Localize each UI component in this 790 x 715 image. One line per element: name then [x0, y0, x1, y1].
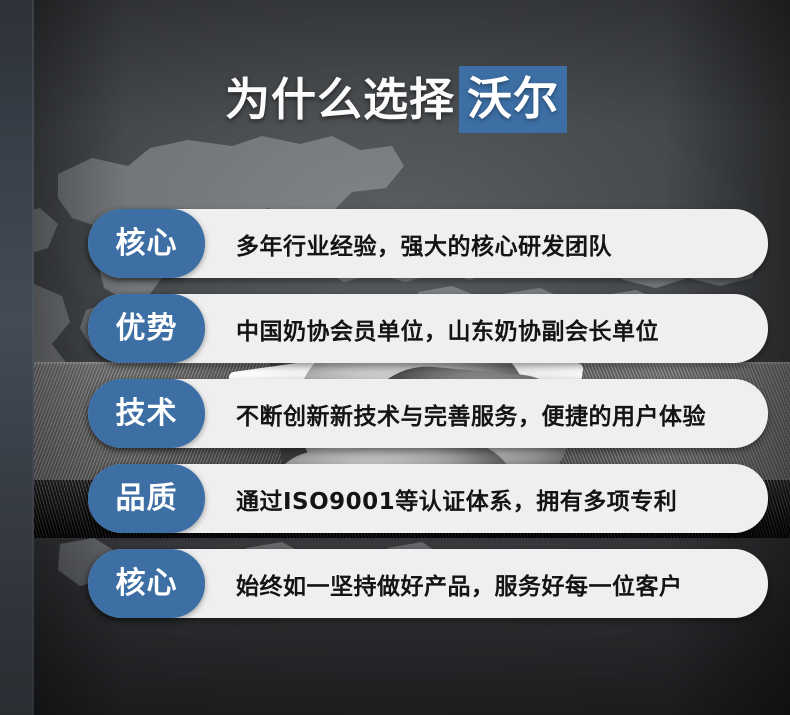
feature-row[interactable]: 通过ISO9001等认证体系，拥有多项专利 品质 — [88, 464, 768, 533]
why-choose-us-banner: 为什么选择 沃尔 多年行业经验，强大的核心研发团队 核心 中国奶协会员单位，山东… — [0, 0, 790, 715]
feature-row[interactable]: 多年行业经验，强大的核心研发团队 核心 — [88, 209, 768, 278]
feature-list: 多年行业经验，强大的核心研发团队 核心 中国奶协会员单位，山东奶协副会长单位 优… — [0, 0, 790, 715]
feature-badge-label: 核心 — [116, 569, 178, 599]
feature-badge-label: 优势 — [116, 314, 178, 344]
feature-text: 始终如一坚持做好产品，服务好每一位客户 — [236, 549, 683, 618]
feature-text: 不断创新新技术与完善服务，便捷的用户体验 — [236, 379, 706, 448]
feature-badge[interactable]: 品质 — [88, 464, 205, 533]
feature-badge-label: 品质 — [116, 484, 178, 514]
feature-row[interactable]: 中国奶协会员单位，山东奶协副会长单位 优势 — [88, 294, 768, 363]
feature-badge[interactable]: 核心 — [88, 549, 205, 618]
feature-text: 通过ISO9001等认证体系，拥有多项专利 — [236, 464, 677, 533]
feature-badge-label: 技术 — [116, 399, 178, 429]
feature-text: 中国奶协会员单位，山东奶协副会长单位 — [236, 294, 659, 363]
feature-row[interactable]: 始终如一坚持做好产品，服务好每一位客户 核心 — [88, 549, 768, 618]
feature-badge-label: 核心 — [116, 229, 178, 259]
feature-badge[interactable]: 优势 — [88, 294, 205, 363]
feature-badge[interactable]: 核心 — [88, 209, 205, 278]
feature-row[interactable]: 不断创新新技术与完善服务，便捷的用户体验 技术 — [88, 379, 768, 448]
feature-badge[interactable]: 技术 — [88, 379, 205, 448]
feature-text: 多年行业经验，强大的核心研发团队 — [236, 209, 612, 278]
